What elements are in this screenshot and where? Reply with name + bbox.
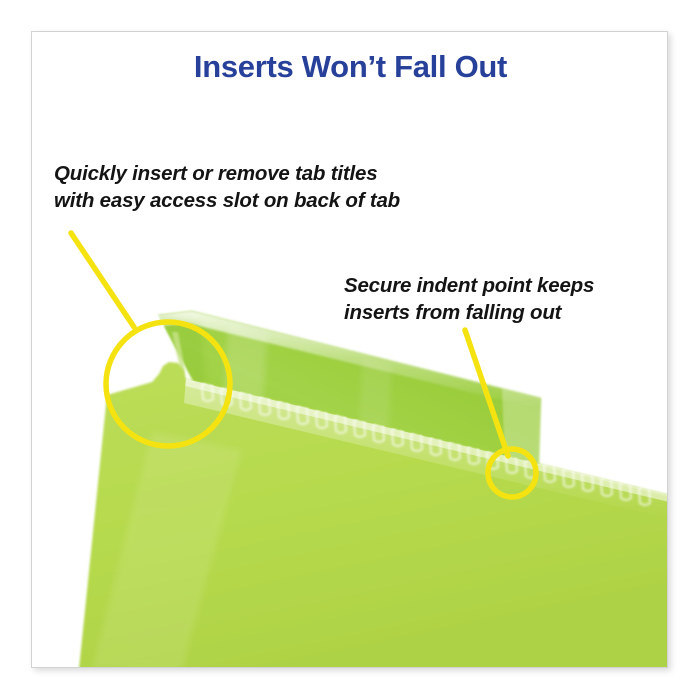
insert-slot-callout-text: Quickly insert or remove tab titles with… [54, 160, 400, 214]
product-feature-card: Inserts Won’t Fall Out Quickly insert or… [0, 0, 700, 700]
product-photo-svg [32, 32, 668, 668]
product-photo [32, 32, 668, 668]
indent-point-callout-line1: Secure indent point keeps [344, 272, 594, 299]
insert-slot-callout-line1: Quickly insert or remove tab titles [54, 160, 400, 187]
page-title: Inserts Won’t Fall Out [32, 50, 668, 84]
insert-slot-callout-line2: with easy access slot on back of tab [54, 187, 400, 214]
indent-point-callout-text: Secure indent point keeps inserts from f… [344, 272, 594, 326]
insert-slot-leader-line [71, 233, 134, 327]
indent-point-callout-line2: inserts from falling out [344, 299, 594, 326]
card-frame: Inserts Won’t Fall Out Quickly insert or… [31, 31, 668, 668]
